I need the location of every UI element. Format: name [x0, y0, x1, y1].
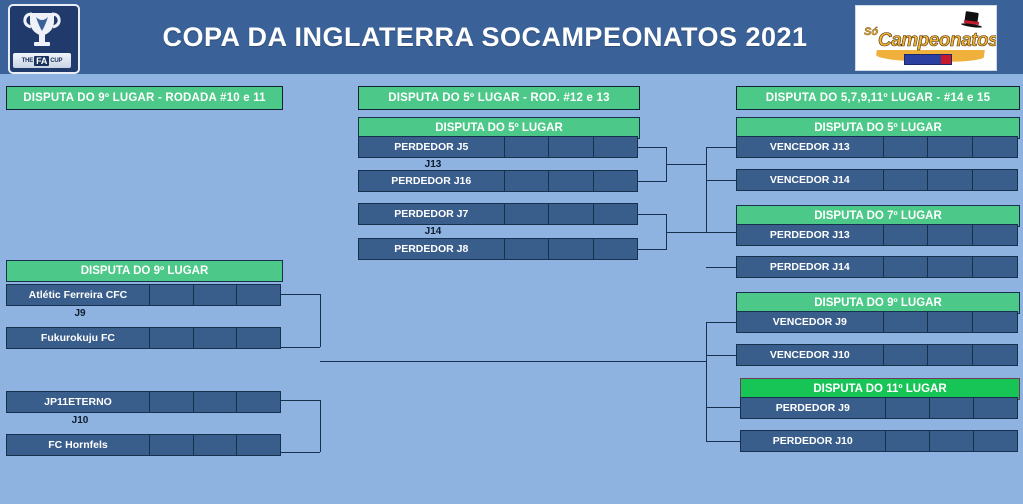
group-title-left-9th: DISPUTA DO 9º LUGAR	[6, 260, 283, 282]
score-cell[interactable]	[237, 392, 280, 412]
team-name: PERDEDOR J5	[359, 137, 505, 157]
table-row[interactable]: VENCEDOR J13	[736, 136, 1018, 158]
top-hat-icon	[960, 12, 982, 28]
bracket-line	[638, 214, 666, 215]
team-name: VENCEDOR J9	[737, 312, 884, 332]
bracket-line	[281, 347, 320, 348]
score-cell[interactable]	[928, 257, 973, 277]
team-name: PERDEDOR J10	[741, 431, 886, 451]
score-cell[interactable]	[549, 239, 593, 259]
table-row[interactable]: FC Hornfels	[6, 434, 281, 456]
score-cell[interactable]	[505, 239, 549, 259]
fa-cup-the: THE	[22, 58, 33, 64]
bracket-line	[281, 294, 320, 295]
score-cell[interactable]	[884, 137, 929, 157]
bracket-line	[706, 267, 736, 268]
score-cell[interactable]	[928, 137, 973, 157]
score-cell[interactable]	[886, 431, 930, 451]
score-cell[interactable]	[973, 137, 1017, 157]
score-cell[interactable]	[194, 435, 238, 455]
bracket-line	[706, 355, 736, 356]
team-name: VENCEDOR J14	[737, 170, 884, 190]
team-name: JP11ETERNO	[7, 392, 150, 412]
score-cell[interactable]	[930, 398, 974, 418]
section-caption-5th-place: DISPUTA DO 5º LUGAR - ROD. #12 e 13	[358, 86, 640, 110]
score-cell[interactable]	[928, 170, 973, 190]
table-row[interactable]: PERDEDOR J13	[736, 224, 1018, 246]
score-cell[interactable]	[150, 435, 194, 455]
fa-cup-fa: FA	[34, 56, 49, 66]
bracket-line	[638, 249, 666, 250]
score-cell[interactable]	[194, 285, 238, 305]
score-cell[interactable]	[884, 225, 929, 245]
score-cell[interactable]	[973, 345, 1017, 365]
table-row[interactable]: VENCEDOR J10	[736, 344, 1018, 366]
team-name: PERDEDOR J16	[359, 171, 505, 191]
bracket-line	[638, 147, 666, 148]
team-name: PERDEDOR J14	[737, 257, 884, 277]
table-row[interactable]: Fukurokuju FC	[6, 327, 281, 349]
table-row[interactable]: JP11ETERNO	[6, 391, 281, 413]
bracket-line	[666, 164, 706, 165]
score-cell[interactable]	[594, 137, 637, 157]
score-cell[interactable]	[194, 328, 238, 348]
bracket-line	[666, 232, 706, 233]
bracket-line	[320, 361, 706, 362]
section-caption-9th-place: DISPUTA DO 9º LUGAR - RODADA #10 e 11	[6, 86, 283, 110]
match-id-label: J13	[358, 159, 508, 170]
score-cell[interactable]	[594, 204, 637, 224]
so-campeonatos-logo: Só Campeonatos	[855, 5, 997, 71]
score-cell[interactable]	[884, 345, 929, 365]
score-cell[interactable]	[886, 398, 930, 418]
logo-campeonatos-text: Campeonatos	[878, 30, 997, 52]
score-cell[interactable]	[194, 392, 238, 412]
team-name: Atlétic Ferreira CFC	[7, 285, 150, 305]
page-title: COPA DA INGLATERRA SOCAMPEONATOS 2021	[120, 0, 850, 74]
bracket-line	[638, 181, 666, 182]
table-row[interactable]: PERDEDOR J10	[740, 430, 1018, 452]
score-cell[interactable]	[237, 328, 280, 348]
bracket-line	[706, 322, 707, 442]
score-cell[interactable]	[505, 137, 549, 157]
team-name: PERDEDOR J13	[737, 225, 884, 245]
score-cell[interactable]	[549, 171, 593, 191]
score-cell[interactable]	[974, 431, 1017, 451]
bracket-line	[706, 407, 740, 408]
fa-cup-logo: THE FA CUP	[8, 4, 80, 74]
score-cell[interactable]	[928, 345, 973, 365]
table-row[interactable]: VENCEDOR J14	[736, 169, 1018, 191]
table-row[interactable]: PERDEDOR J14	[736, 256, 1018, 278]
bracket-line	[281, 452, 320, 453]
team-name: PERDEDOR J7	[359, 204, 505, 224]
bracket-line	[706, 147, 736, 148]
section-caption-final-places: DISPUTA DO 5,7,9,11º LUGAR - #14 e 15	[736, 86, 1020, 110]
score-cell[interactable]	[884, 257, 929, 277]
score-cell[interactable]	[974, 398, 1017, 418]
match-id-label: J10	[6, 415, 154, 426]
table-row[interactable]: VENCEDOR J9	[736, 311, 1018, 333]
score-cell[interactable]	[928, 225, 973, 245]
table-row[interactable]: PERDEDOR J16	[358, 170, 638, 192]
score-cell[interactable]	[973, 170, 1017, 190]
bracket-line	[706, 441, 740, 442]
table-row[interactable]: PERDEDOR J9	[740, 397, 1018, 419]
team-name: VENCEDOR J13	[737, 137, 884, 157]
logo-so-text: Só	[864, 26, 878, 38]
table-row[interactable]: PERDEDOR J7	[358, 203, 638, 225]
title-bar: THE FA CUP COPA DA INGLATERRA SOCAMPEONA…	[0, 0, 1023, 74]
match-id-label: J9	[6, 308, 154, 319]
score-cell[interactable]	[973, 225, 1017, 245]
table-row[interactable]: Atlétic Ferreira CFC	[6, 284, 281, 306]
team-name: FC Hornfels	[7, 435, 150, 455]
bracket-line	[706, 322, 736, 323]
table-row[interactable]: PERDEDOR J8	[358, 238, 638, 260]
bracket-line	[320, 294, 321, 347]
score-cell[interactable]	[594, 171, 637, 191]
bracket-line	[706, 180, 736, 181]
team-name: PERDEDOR J8	[359, 239, 505, 259]
score-cell[interactable]	[505, 204, 549, 224]
team-name: Fukurokuju FC	[7, 328, 150, 348]
bracket-line	[706, 232, 736, 233]
fa-cup-wordmark: THE FA CUP	[13, 53, 71, 68]
score-cell[interactable]	[549, 204, 593, 224]
score-cell[interactable]	[884, 170, 929, 190]
score-cell[interactable]	[594, 239, 637, 259]
logo-flag-icon	[904, 54, 952, 65]
score-cell[interactable]	[505, 171, 549, 191]
score-cell[interactable]	[884, 312, 929, 332]
team-name: VENCEDOR J10	[737, 345, 884, 365]
bracket-line	[320, 400, 321, 452]
bracket-line	[281, 400, 320, 401]
score-cell[interactable]	[928, 312, 973, 332]
match-id-label: J14	[358, 226, 508, 237]
score-cell[interactable]	[150, 328, 194, 348]
score-cell[interactable]	[930, 431, 974, 451]
score-cell[interactable]	[237, 435, 280, 455]
bracket-line	[706, 147, 707, 232]
table-row[interactable]: PERDEDOR J5	[358, 136, 638, 158]
score-cell[interactable]	[973, 312, 1017, 332]
score-cell[interactable]	[973, 257, 1017, 277]
score-cell[interactable]	[150, 392, 194, 412]
fa-cup-trophy-icon	[10, 8, 74, 52]
score-cell[interactable]	[237, 285, 280, 305]
score-cell[interactable]	[549, 137, 593, 157]
team-name: PERDEDOR J9	[741, 398, 886, 418]
score-cell[interactable]	[150, 285, 194, 305]
fa-cup-cup: CUP	[50, 58, 62, 64]
